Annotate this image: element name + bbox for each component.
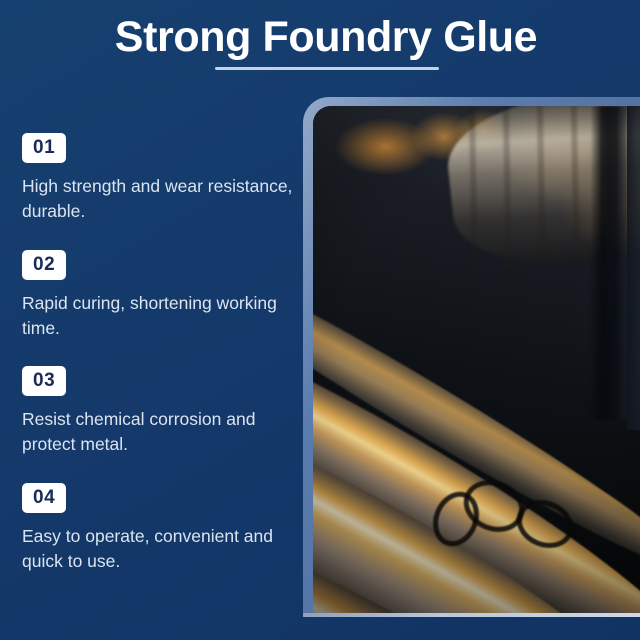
feature-description: Easy to operate, convenient and quick to… <box>22 524 294 574</box>
title-block: Strong Foundry Glue <box>0 14 640 61</box>
feature-number-badge: 01 <box>22 133 66 163</box>
feature-number-badge: 04 <box>22 483 66 513</box>
feature-number-badge: 02 <box>22 250 66 280</box>
product-feature-poster: Strong Foundry Glue 01 High strength and… <box>0 0 640 640</box>
feature-list: 01 High strength and wear resistance, du… <box>22 133 307 574</box>
feature-description: High strength and wear resistance, durab… <box>22 174 294 224</box>
feature-item: 03 Resist chemical corrosion and protect… <box>22 366 307 457</box>
photo-vignette <box>313 106 640 613</box>
feature-item: 04 Easy to operate, convenient and quick… <box>22 483 307 574</box>
photo-frame-bottom-edge <box>303 613 640 617</box>
page-title: Strong Foundry Glue <box>103 14 537 61</box>
feature-item: 02 Rapid curing, shortening working time… <box>22 250 307 341</box>
feature-item: 01 High strength and wear resistance, du… <box>22 133 307 224</box>
feature-description: Rapid curing, shortening working time. <box>22 291 294 341</box>
product-photo <box>313 106 640 613</box>
photo-scene <box>313 106 640 613</box>
feature-number-badge: 03 <box>22 366 66 396</box>
feature-description: Resist chemical corrosion and protect me… <box>22 407 294 457</box>
title-underline-rule <box>215 67 439 70</box>
